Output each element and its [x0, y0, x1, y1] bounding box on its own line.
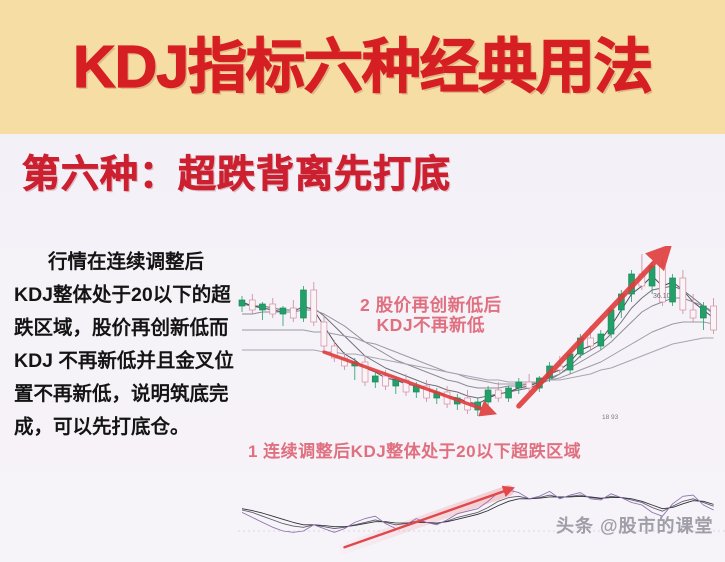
watermark: 头条 @股市的课堂	[556, 512, 714, 538]
annotation-note-2-line1: 2 股价再创新低后	[360, 296, 502, 316]
candle-body	[598, 334, 604, 346]
candle-body	[495, 390, 501, 398]
slide-root: KDJ指标六种经典用法 第六种：超跌背离先打底 行情在连续调整后KDJ整体处于2…	[0, 0, 725, 562]
candle-body	[260, 304, 266, 310]
candle-body	[270, 304, 276, 314]
candle-body	[506, 388, 512, 398]
ascending-breakout-arrow	[519, 254, 663, 406]
candle-body	[383, 376, 389, 386]
kdj-trend-arrow	[345, 490, 509, 549]
header-band: KDJ指标六种经典用法	[0, 0, 725, 134]
candle-body	[301, 290, 307, 318]
candle-body	[372, 376, 378, 382]
candle-body	[290, 308, 296, 318]
candle-body	[516, 382, 522, 388]
section-subtitle: 第六种：超跌背离先打底	[22, 156, 451, 194]
candle-body	[311, 290, 317, 322]
price-label: 36.10	[653, 293, 671, 300]
candle-body	[280, 308, 286, 314]
candle-body	[393, 380, 399, 386]
candle-body	[711, 306, 717, 330]
candle-body	[526, 382, 532, 388]
annotation-note-2: 2 股价再创新低后 KDJ不再新低	[360, 296, 502, 335]
candle-body	[249, 300, 255, 310]
candle-body	[680, 278, 686, 310]
ma-line-ma120	[242, 338, 714, 382]
annotation-note-1: 1 连续调整后KDJ整体处于20以下超跌区域	[248, 442, 581, 461]
candle-body	[485, 390, 491, 402]
candle-body	[239, 300, 245, 306]
candle-body	[321, 322, 327, 346]
explanation-paragraph: 行情在连续调整后KDJ整体处于20以下的超跌区域，股价再创新低而KDJ 不再新低…	[14, 246, 236, 444]
descending-divergence-arrow	[324, 352, 488, 411]
stock-chart: 2 股价再创新低后 KDJ不再新低 1 连续调整后KDJ整体处于20以下超跌区域…	[238, 246, 725, 562]
annotation-note-2-line2: KDJ不再新低	[360, 316, 502, 336]
axis-value-label: 18 93	[602, 414, 618, 421]
candle-body	[690, 310, 696, 318]
slide-body: 第六种：超跌背离先打底 行情在连续调整后KDJ整体处于20以下的超跌区域，股价再…	[0, 134, 725, 562]
page-title: KDJ指标六种经典用法	[0, 0, 725, 134]
candle-body	[700, 306, 706, 318]
candle-body	[588, 338, 594, 346]
kdj-higher-low-arrow	[345, 490, 509, 548]
